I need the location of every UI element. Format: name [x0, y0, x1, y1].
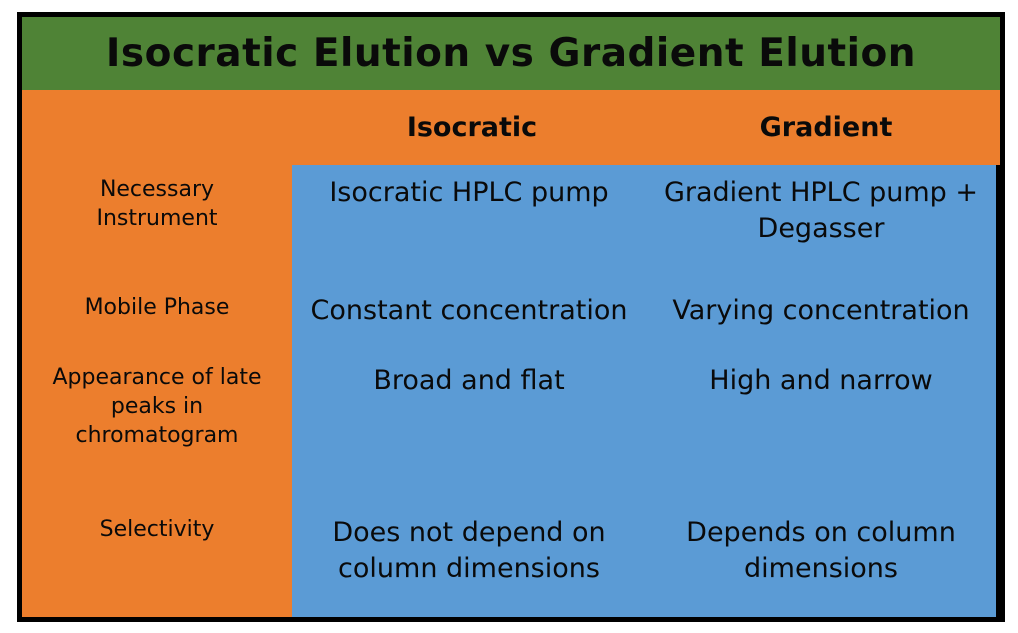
page-title: Isocratic Elution vs Gradient Elution	[106, 34, 916, 73]
table-cell-gradient: Varying concentration	[646, 293, 996, 345]
table-cell-isocratic: Isocratic HPLC pump	[292, 175, 646, 285]
table-cell-isocratic: Broad and flat	[292, 363, 646, 503]
label-line: Selectivity	[100, 515, 215, 544]
column-header-isocratic: Isocratic	[292, 90, 652, 165]
table-title-band: Isocratic Elution vs Gradient Elution	[22, 17, 1000, 90]
table-row-label: Mobile Phase	[22, 293, 292, 345]
column-header-gradient: Gradient	[652, 90, 1000, 165]
label-line: Appearance of late	[52, 363, 261, 392]
label-line: Instrument	[96, 204, 217, 233]
label-line: Necessary	[96, 175, 217, 204]
table-cell-isocratic: Does not depend on column dimensions	[292, 515, 646, 615]
table-row-label: Selectivity	[22, 515, 292, 615]
column-header-row: Isocratic Gradient	[22, 90, 1000, 165]
table-cell-gradient: High and narrow	[646, 363, 996, 503]
property-label-column: Necessary Instrument Mobile Phase Appear…	[22, 165, 292, 617]
label-line: Mobile Phase	[85, 293, 230, 322]
values-panel: Isocratic HPLC pump Gradient HPLC pump +…	[292, 165, 1000, 617]
comparison-table: Isocratic Elution vs Gradient Elution Is…	[17, 12, 1005, 622]
table-cell-isocratic: Constant concentration	[292, 293, 646, 345]
table-cell-gradient: Depends on column dimensions	[646, 515, 996, 615]
table-cell-gradient: Gradient HPLC pump + Degasser	[646, 175, 996, 285]
label-line: chromatogram	[52, 421, 261, 450]
table-row-label: Appearance of late peaks in chromatogram	[22, 363, 292, 503]
table-row-label: Necessary Instrument	[22, 175, 292, 285]
label-line: peaks in	[52, 392, 261, 421]
comparison-table-page: Isocratic Elution vs Gradient Elution Is…	[0, 0, 1018, 633]
